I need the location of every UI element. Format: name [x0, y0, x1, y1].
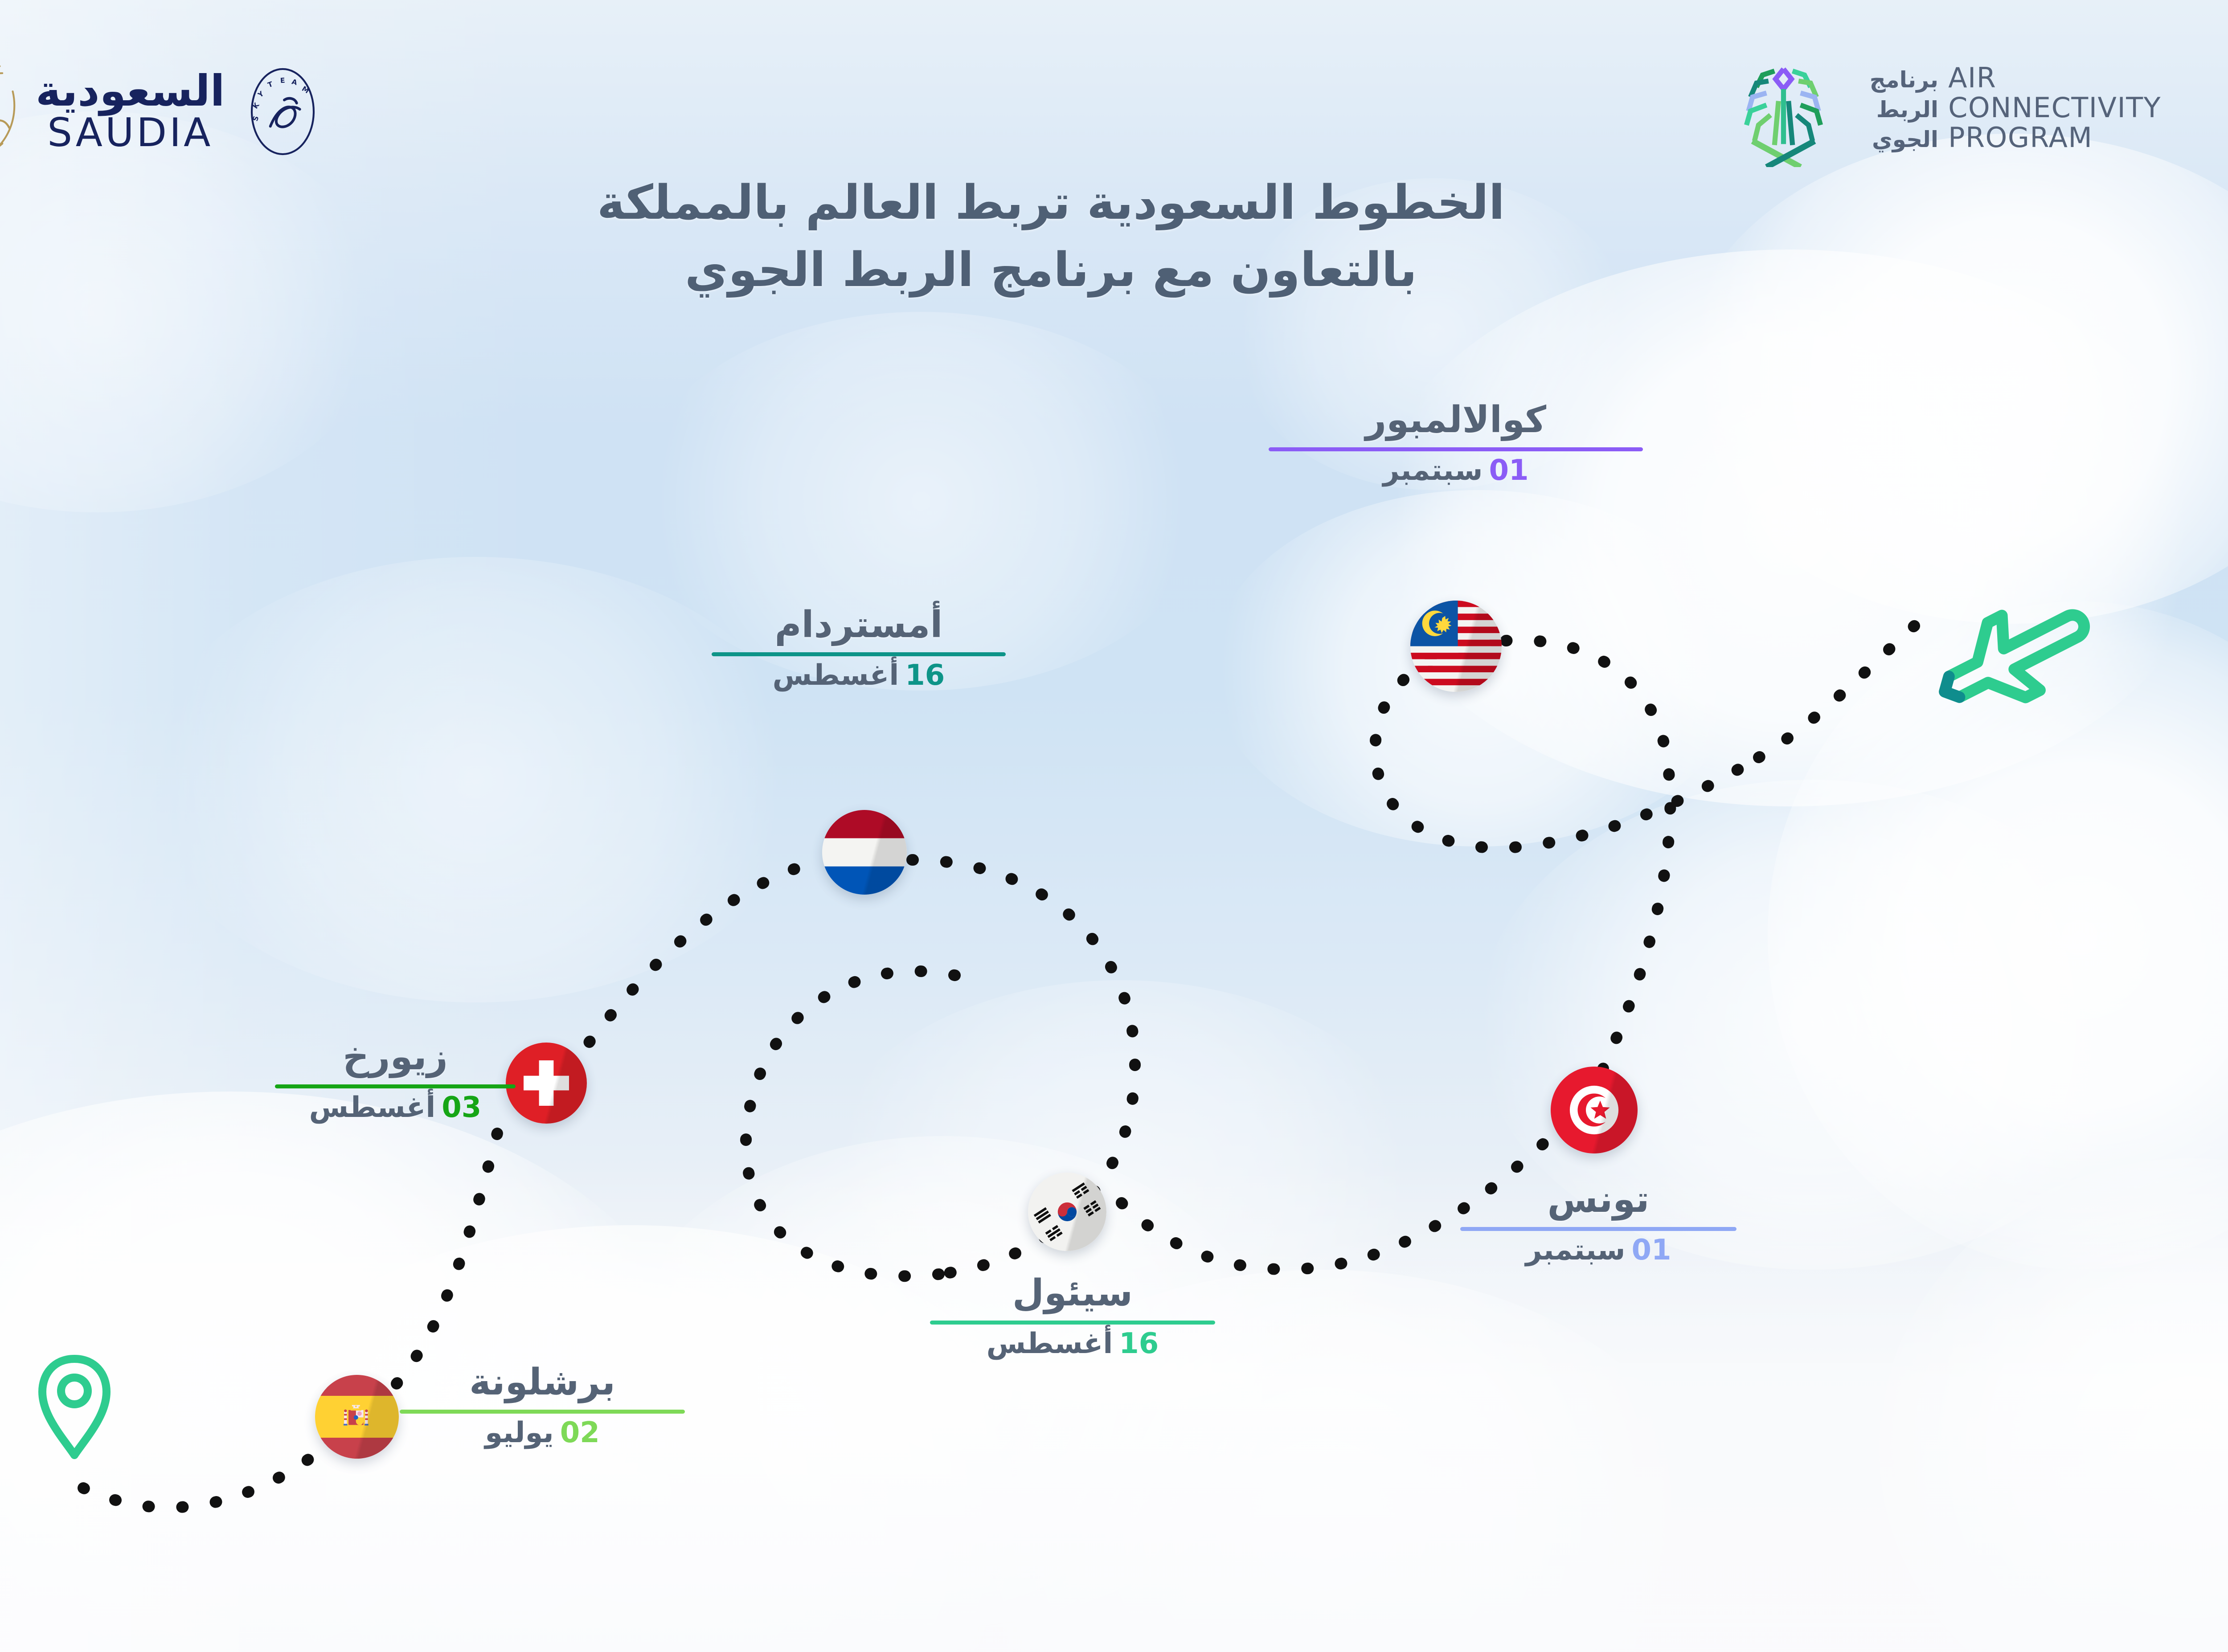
accent-rule	[1460, 1227, 1737, 1231]
svg-text:E: E	[280, 76, 285, 85]
destination-label-amsterdam: أمستردام 16أغسطس	[712, 606, 1006, 691]
destination-date: 03أغسطس	[275, 1093, 516, 1123]
saudia-palm-emblem-icon	[0, 60, 23, 163]
airplane-icon	[1906, 548, 2138, 753]
svg-text:M: M	[300, 84, 311, 95]
destination-date: 16أغسطس	[712, 661, 1006, 691]
acp-english-line-2: CONNECTIVITY	[1948, 93, 2161, 123]
svg-text:Y: Y	[256, 89, 266, 99]
destination-label-barcelona: برشلونة 02يوليو	[400, 1363, 685, 1448]
date-day: 01	[1489, 454, 1528, 487]
svg-text:A: A	[291, 77, 298, 87]
saudia-logo: السعودية SAUDIA S K Y T E A M	[0, 60, 322, 163]
date-month: أغسطس	[987, 1327, 1113, 1360]
acp-english-line-3: PROGRAM	[1948, 123, 2093, 153]
city-name: تونس	[1460, 1181, 1737, 1219]
acp-arabic-line-2: الربط	[1854, 98, 1938, 122]
destination-date: 01سبتمبر	[1460, 1235, 1737, 1265]
date-month: سبتمبر	[1383, 454, 1483, 487]
city-name: أمستردام	[712, 606, 1006, 644]
south-korea-flag-icon[interactable]	[1028, 1173, 1106, 1251]
saudia-latin-wordmark: SAUDIA	[47, 112, 213, 153]
city-name: كوالالمبور	[1269, 401, 1643, 439]
tunisia-flag-icon[interactable]	[1551, 1067, 1638, 1153]
destination-label-seoul: سيئول 16أغسطس	[930, 1274, 1215, 1359]
switzerland-flag-icon[interactable]	[506, 1043, 587, 1124]
date-day: 01	[1631, 1234, 1671, 1267]
netherlands-flag-icon[interactable]	[822, 810, 907, 895]
acp-palm-emblem-icon	[1727, 49, 1840, 167]
page-title: الخطوط السعودية تربط العالم بالمملكة بال…	[0, 169, 2228, 303]
date-month: سبتمبر	[1525, 1234, 1625, 1267]
accent-rule	[712, 652, 1006, 656]
date-day: 16	[1119, 1327, 1159, 1360]
city-name: برشلونة	[400, 1363, 685, 1402]
accent-rule	[275, 1084, 516, 1088]
spain-flag-icon[interactable]	[315, 1375, 399, 1459]
destination-date: 02يوليو	[400, 1418, 685, 1448]
city-name: زيورخ	[275, 1038, 516, 1076]
destination-label-tunis: تونس 01سبتمبر	[1460, 1181, 1737, 1265]
skyteam-logo-icon: S K Y T E A M	[244, 66, 322, 157]
malaysia-flag-icon[interactable]	[1410, 601, 1502, 692]
map-pin-icon	[30, 1350, 119, 1466]
acp-arabic-line-1: برنامج	[1854, 68, 1938, 92]
title-line-1: الخطوط السعودية تربط العالم بالمملكة	[0, 169, 2228, 237]
svg-text:T: T	[266, 79, 274, 89]
saudia-arabic-wordmark: السعودية	[36, 70, 225, 112]
date-month: أغسطس	[309, 1091, 436, 1124]
accent-rule	[400, 1410, 685, 1414]
city-name: سيئول	[930, 1274, 1215, 1313]
date-day: 02	[560, 1416, 600, 1449]
accent-rule	[1269, 447, 1643, 451]
date-month: أغسطس	[773, 659, 899, 692]
acp-arabic-line-3: الجوي	[1854, 127, 1938, 151]
acp-english-line-1: AIR	[1948, 63, 1996, 93]
date-day: 16	[905, 659, 945, 692]
destination-date: 16أغسطس	[930, 1329, 1215, 1359]
destination-date: 01سبتمبر	[1269, 456, 1643, 486]
destination-label-zurich: زيورخ 03أغسطس	[275, 1038, 516, 1123]
infographic-canvas: السعودية SAUDIA S K Y T E A M	[0, 0, 2228, 1652]
title-line-2: بالتعاون مع برنامج الربط الجوي	[0, 237, 2228, 304]
date-month: يوليو	[485, 1416, 553, 1449]
date-day: 03	[442, 1091, 481, 1124]
destination-label-kuala-lumpur: كوالالمبور 01سبتمبر	[1269, 401, 1643, 486]
accent-rule	[930, 1321, 1215, 1325]
air-connectivity-program-logo: برنامج AIR الربط CONNECTIVITY الجوي PROG…	[1727, 49, 2161, 167]
